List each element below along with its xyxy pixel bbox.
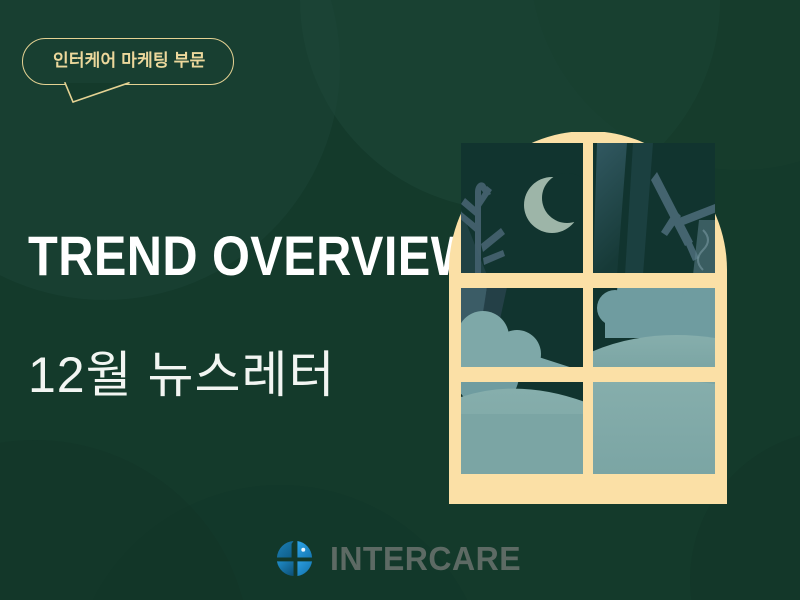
arched-night-window-illustration <box>447 132 729 504</box>
slide-canvas: 인터케어 마케팅 부문 TREND OVERVIEW 12월 뉴스레터 <box>0 0 800 600</box>
page-title: TREND OVERVIEW <box>28 228 477 284</box>
department-tag-label: 인터케어 마케팅 부문 <box>53 51 205 70</box>
page-subtitle: 12월 뉴스레터 <box>28 350 336 400</box>
speech-bubble: 인터케어 마케팅 부문 <box>22 38 234 85</box>
department-tag: 인터케어 마케팅 부문 <box>22 38 234 85</box>
intercare-logo: INTERCARE <box>0 539 800 578</box>
speech-bubble-tail-icon <box>63 82 133 103</box>
intercare-cross-circle-icon <box>275 539 314 578</box>
logo-wordmark: INTERCARE <box>330 542 521 575</box>
